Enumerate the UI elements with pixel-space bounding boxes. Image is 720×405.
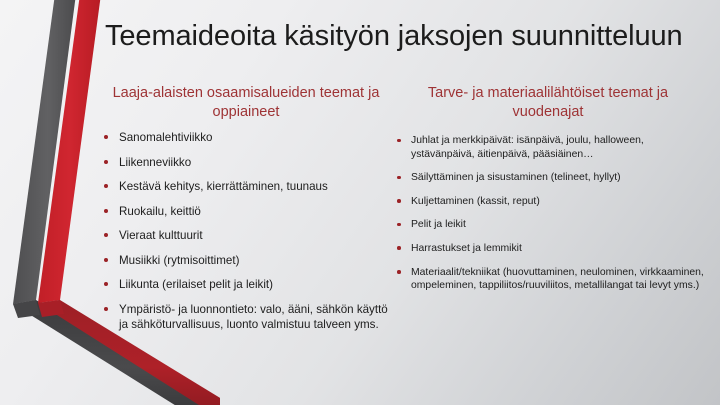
bullet-dot-icon [397, 246, 401, 250]
list-item: Pelit ja leikit [392, 218, 704, 232]
page-title: Teemaideoita käsityön jaksojen suunnitte… [105, 20, 705, 53]
bullet-dot-icon [397, 223, 401, 227]
column-right-bullet-list: Juhlat ja merkkipäivät: isänpäivä, joulu… [392, 134, 704, 293]
list-item: Materiaalit/tekniikat (huovuttaminen, ne… [392, 266, 704, 293]
list-item: Juhlat ja merkkipäivät: isänpäivä, joulu… [392, 134, 704, 161]
bullet-dot-icon [104, 282, 108, 286]
bullet-dot-icon [104, 307, 108, 311]
list-item-label: Vieraat kulttuurit [119, 229, 203, 242]
list-item-label: Musiikki (rytmisoittimet) [119, 254, 239, 267]
list-item-label: Sanomalehtiviikko [119, 131, 212, 144]
column-right: Tarve- ja materiaalilähtöiset teemat ja … [392, 84, 704, 303]
slide-content: Teemaideoita käsityön jaksojen suunnitte… [0, 0, 720, 405]
list-item-label: Pelit ja leikit [411, 219, 466, 230]
list-item-label: Kestävä kehitys, kierrättäminen, tuunaus [119, 180, 328, 193]
slide-canvas: Teemaideoita käsityön jaksojen suunnitte… [0, 0, 720, 405]
bullet-dot-icon [104, 160, 108, 164]
list-item-label: Kuljettaminen (kassit, reput) [411, 196, 540, 207]
bullet-dot-icon [397, 270, 401, 274]
list-item: Sanomalehtiviikko [100, 130, 392, 145]
list-item: Liikunta (erilaiset pelit ja leikit) [100, 277, 392, 292]
column-left: Laaja-alaisten osaamisalueiden teemat ja… [100, 84, 392, 341]
list-item-label: Ympäristö- ja luonnontieto: valo, ääni, … [119, 303, 388, 331]
list-item: Harrastukset ja lemmikit [392, 242, 704, 256]
list-item: Ruokailu, keittiö [100, 204, 392, 219]
bullet-dot-icon [104, 209, 108, 213]
list-item-label: Juhlat ja merkkipäivät: isänpäivä, joulu… [411, 135, 644, 160]
bullet-dot-icon [104, 233, 108, 237]
list-item: Säilyttäminen ja sisustaminen (telineet,… [392, 171, 704, 185]
list-item: Kuljettaminen (kassit, reput) [392, 195, 704, 209]
list-item: Kestävä kehitys, kierrättäminen, tuunaus [100, 179, 392, 194]
bullet-dot-icon [104, 135, 108, 139]
list-item-label: Liikunta (erilaiset pelit ja leikit) [119, 278, 273, 291]
column-left-bullet-list: Sanomalehtiviikko Liikenneviikko Kestävä… [100, 130, 392, 332]
list-item-label: Harrastukset ja lemmikit [411, 243, 522, 254]
list-item: Musiikki (rytmisoittimet) [100, 253, 392, 268]
list-item: Vieraat kulttuurit [100, 228, 392, 243]
list-item: Liikenneviikko [100, 155, 392, 170]
list-item-label: Liikenneviikko [119, 156, 191, 169]
bullet-dot-icon [397, 199, 401, 203]
list-item-label: Säilyttäminen ja sisustaminen (telineet,… [411, 172, 621, 183]
bullet-dot-icon [397, 176, 401, 180]
list-item-label: Ruokailu, keittiö [119, 205, 201, 218]
list-item: Ympäristö- ja luonnontieto: valo, ääni, … [100, 302, 392, 332]
column-left-heading: Laaja-alaisten osaamisalueiden teemat ja… [100, 84, 392, 122]
column-right-heading: Tarve- ja materiaalilähtöiset teemat ja … [392, 84, 704, 122]
bullet-dot-icon [104, 258, 108, 262]
bullet-dot-icon [104, 184, 108, 188]
bullet-dot-icon [397, 139, 401, 143]
list-item-label: Materiaalit/tekniikat (huovuttaminen, ne… [411, 267, 704, 292]
